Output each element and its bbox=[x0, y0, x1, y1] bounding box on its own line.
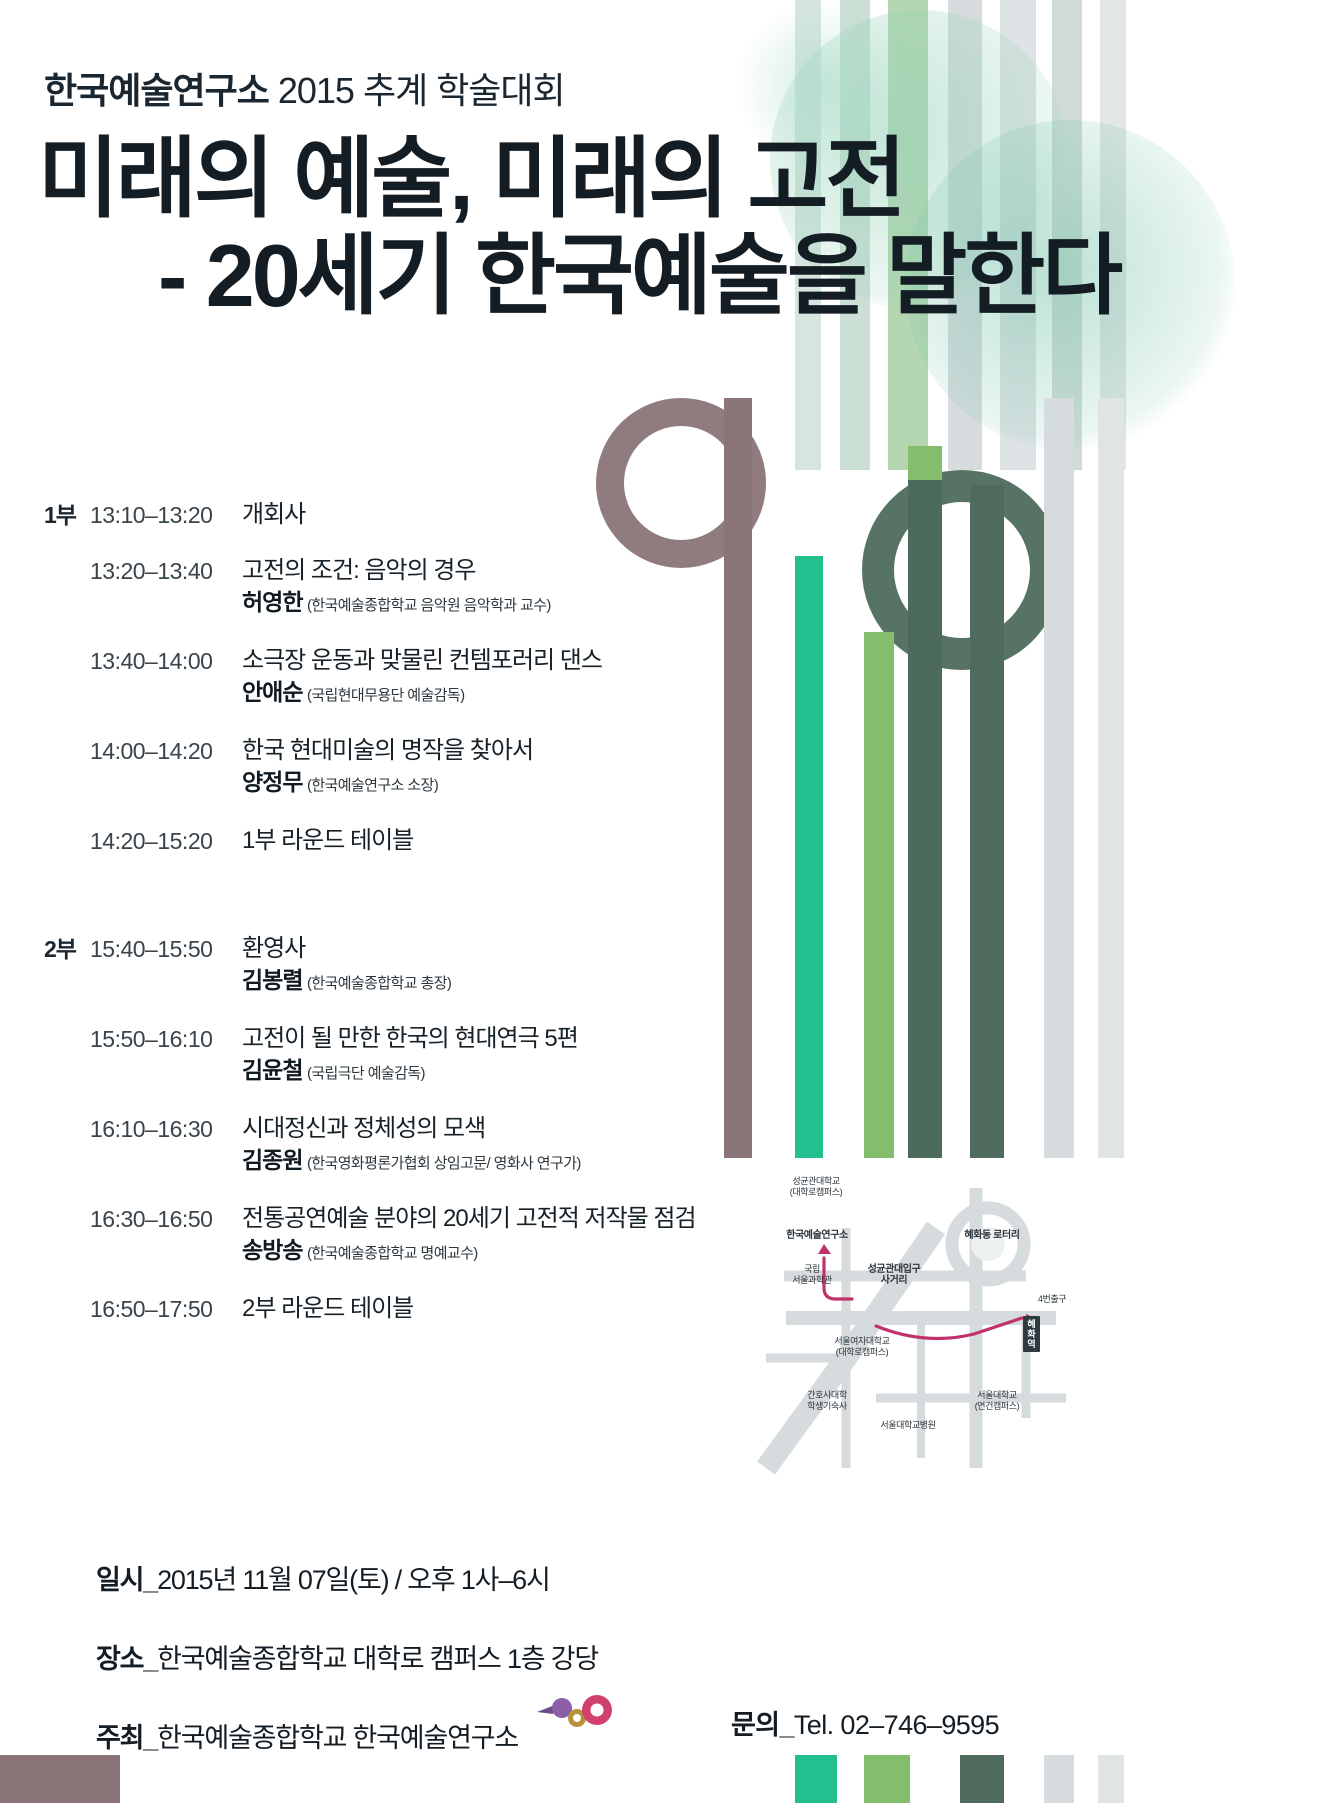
map-label-hyehwa-rotary: 혜화동 로터리 bbox=[942, 1230, 1042, 1241]
kicker-subtitle: 2015 추계 학술대회 bbox=[278, 70, 565, 111]
speaker-name: 허영한 bbox=[242, 589, 302, 615]
schedule-speaker: 김윤철 (국립극단 예술감독) bbox=[242, 1056, 734, 1088]
schedule-speaker: 허영한 (한국예술종합학교 음악원 음악학과 교수) bbox=[242, 588, 734, 620]
schedule-row: 13:40–14:00 소극장 운동과 맞물린 컨템포러리 댄스 안애순 (국립… bbox=[44, 646, 734, 710]
map-label-snu-hospital: 서울대학교병원 bbox=[858, 1420, 958, 1431]
schedule-row: 16:50–17:50 2부 라운드 테이블 bbox=[44, 1294, 734, 1324]
schedule-body: 전통공연예술 분야의 20세기 고전적 저작물 점검 송방송 (한국예술종합학교… bbox=[242, 1204, 734, 1268]
schedule-row: 16:10–16:30 시대정신과 정체성의 모색 김종원 (한국영화평론가협회… bbox=[44, 1114, 734, 1178]
speaker-affiliation: (한국예술종합학교 명예교수) bbox=[307, 1245, 478, 1262]
map-label-exit-4: 4번출구 bbox=[1026, 1294, 1078, 1305]
map-label-sungkyunkwan: 성균관대학교 (대학로캠퍼스) bbox=[768, 1176, 864, 1198]
bar-lightgreen bbox=[864, 632, 894, 1158]
schedule-title: 1부 라운드 테이블 bbox=[242, 826, 734, 856]
schedule-title: 전통공연예술 분야의 20세기 고전적 저작물 점검 bbox=[242, 1204, 734, 1234]
info-place: 장소_한국예술종합학교 대학로 캠퍼스 1층 강당 bbox=[96, 1637, 736, 1676]
schedule-title: 한국 현대미술의 명작을 찾아서 bbox=[242, 736, 734, 766]
map-label-nursing-dorm: 간호사대학 학생기숙사 bbox=[786, 1390, 868, 1412]
map-label-text: 서울여자대학교 bbox=[834, 1336, 889, 1346]
schedule-body: 시대정신과 정체성의 모색 김종원 (한국영화평론가협회 상임고문/ 영화사 연… bbox=[242, 1114, 734, 1178]
band-gray-2 bbox=[1098, 1755, 1124, 1803]
decorative-stem-green bbox=[908, 446, 942, 1158]
schedule-title: 소극장 운동과 맞물린 컨템포러리 댄스 bbox=[242, 646, 734, 676]
decorative-stem-green-cap bbox=[908, 446, 942, 480]
map-label-subtext: 학생기숙사 bbox=[807, 1401, 846, 1411]
poster-root: 한국예술연구소 2015 추계 학술대회 미래의 예술, 미래의 고전 - 20… bbox=[0, 0, 1327, 1803]
band-gray-1 bbox=[1044, 1755, 1074, 1803]
band-mauve bbox=[0, 1755, 120, 1803]
part-label-1: 1부 bbox=[44, 500, 90, 530]
bar-darkgreen bbox=[970, 485, 1004, 1158]
map-label-seoul-women-univ: 서울여자대학교 (대학로캠퍼스) bbox=[810, 1336, 914, 1358]
poster-title: 미래의 예술, 미래의 고전 - 20세기 한국예술을 말한다 bbox=[38, 132, 1218, 323]
info-host-value: 한국예술종합학교 한국예술연구소 bbox=[157, 1723, 518, 1753]
title-line-1: 미래의 예술, 미래의 고전 bbox=[38, 129, 903, 228]
schedule-title: 2부 라운드 테이블 bbox=[242, 1294, 734, 1324]
map-label-snu-yeongeon: 서울대학교 (연건캠퍼스) bbox=[952, 1390, 1042, 1412]
bar-gray-1 bbox=[1044, 398, 1074, 1158]
speaker-affiliation: (국립현대무용단 예술감독) bbox=[307, 687, 465, 704]
map-label-text: 성균관대입구 bbox=[868, 1264, 921, 1275]
schedule-body: 1부 라운드 테이블 bbox=[242, 826, 734, 856]
schedule-speaker: 양정무 (한국예술연구소 소장) bbox=[242, 768, 734, 800]
schedule-title: 고전의 조건: 음악의 경우 bbox=[242, 556, 734, 586]
map-label-subtext: (대학로캠퍼스) bbox=[836, 1347, 888, 1357]
speaker-affiliation: (국립극단 예술감독) bbox=[307, 1065, 425, 1082]
speaker-affiliation: (한국예술종합학교 음악원 음악학과 교수) bbox=[307, 597, 551, 614]
schedule-time: 13:10–13:20 bbox=[90, 500, 242, 530]
map-label-subtext: (연건캠퍼스) bbox=[975, 1401, 1020, 1411]
speaker-name: 안애순 bbox=[242, 679, 302, 705]
map-label-text: 성균관대학교 bbox=[792, 1176, 839, 1186]
schedule-time: 16:10–16:30 bbox=[90, 1114, 242, 1144]
schedule-title: 환영사 bbox=[242, 934, 734, 964]
schedule-speaker: 김봉렬 (한국예술종합학교 총장) bbox=[242, 966, 734, 998]
schedule-time: 15:50–16:10 bbox=[90, 1024, 242, 1054]
speaker-name: 김윤철 bbox=[242, 1057, 302, 1083]
schedule-title: 개회사 bbox=[242, 500, 734, 530]
schedule-row: 2부 15:40–15:50 환영사 김봉렬 (한국예술종합학교 총장) bbox=[44, 934, 734, 998]
schedule-title: 고전이 될 만한 한국의 현대연극 5편 bbox=[242, 1024, 734, 1054]
schedule-row: 14:20–15:20 1부 라운드 테이블 bbox=[44, 826, 734, 856]
map-label-institute: 한국예술연구소 bbox=[762, 1230, 872, 1241]
schedule-time: 16:30–16:50 bbox=[90, 1204, 242, 1234]
info-place-label: 장소_ bbox=[96, 1644, 157, 1674]
schedule-body: 개회사 bbox=[242, 500, 734, 530]
contact-value: Tel. 02–746–9595 bbox=[794, 1710, 999, 1740]
speaker-name: 김종원 bbox=[242, 1147, 302, 1173]
schedule-time: 13:20–13:40 bbox=[90, 556, 242, 586]
map-label-text: 국립 bbox=[804, 1264, 820, 1274]
info-place-value: 한국예술종합학교 대학로 캠퍼스 1층 강당 bbox=[157, 1644, 598, 1674]
schedule-body: 한국 현대미술의 명작을 찾아서 양정무 (한국예술연구소 소장) bbox=[242, 736, 734, 800]
schedule-title: 시대정신과 정체성의 모색 bbox=[242, 1114, 734, 1144]
map-label-subtext: 사거리 bbox=[881, 1275, 907, 1286]
schedule-body: 고전이 될 만한 한국의 현대연극 5편 김윤철 (국립극단 예술감독) bbox=[242, 1024, 734, 1088]
speaker-name: 김봉렬 bbox=[242, 967, 302, 993]
contact-label: 문의_ bbox=[731, 1710, 794, 1740]
decorative-bottom-band bbox=[0, 1755, 1327, 1803]
speaker-name: 양정무 bbox=[242, 769, 302, 795]
schedule-time: 14:00–14:20 bbox=[90, 736, 242, 766]
schedule-row: 15:50–16:10 고전이 될 만한 한국의 현대연극 5편 김윤철 (국립… bbox=[44, 1024, 734, 1088]
poster-kicker: 한국예술연구소 2015 추계 학술대회 bbox=[44, 62, 565, 114]
info-date: 일시_2015년 11월 07일(토) / 오후 1사–6시 bbox=[96, 1558, 736, 1597]
speaker-name: 송방송 bbox=[242, 1237, 302, 1263]
location-map: 성균관대학교 (대학로캠퍼스) 혜화동 로터리 한국예술연구소 국립 서울과학관… bbox=[726, 1168, 1086, 1498]
session-part-2: 2부 15:40–15:50 환영사 김봉렬 (한국예술종합학교 총장) 15:… bbox=[44, 934, 734, 1324]
band-darkgreen bbox=[960, 1755, 1004, 1803]
schedule-body: 고전의 조건: 음악의 경우 허영한 (한국예술종합학교 음악원 음악학과 교수… bbox=[242, 556, 734, 620]
speaker-affiliation: (한국예술연구소 소장) bbox=[307, 777, 438, 794]
bar-teal bbox=[795, 556, 823, 1158]
map-label-crossroad: 성균관대입구 사거리 bbox=[848, 1264, 940, 1286]
schedule-time: 13:40–14:00 bbox=[90, 646, 242, 676]
info-date-value: 2015년 11월 07일(토) / 오후 1사–6시 bbox=[157, 1565, 549, 1595]
organization-name: 한국예술연구소 bbox=[44, 70, 269, 111]
organizer-logo-icon bbox=[535, 1694, 615, 1730]
schedule-speaker: 김종원 (한국영화평론가협회 상임고문/ 영화사 연구가) bbox=[242, 1146, 734, 1178]
schedule-body: 소극장 운동과 맞물린 컨템포러리 댄스 안애순 (국립현대무용단 예술감독) bbox=[242, 646, 734, 710]
schedule-time: 16:50–17:50 bbox=[90, 1294, 242, 1324]
schedule: 1부 13:10–13:20 개회사 13:20–13:40 고전의 조건: 음… bbox=[44, 500, 734, 1354]
info-host: 주최_한국예술종합학교 한국예술연구소 bbox=[96, 1716, 736, 1755]
speaker-affiliation: (한국영화평론가협회 상임고문/ 영화사 연구가) bbox=[307, 1155, 581, 1172]
part-label-2: 2부 bbox=[44, 934, 90, 964]
contact-info: 문의_Tel. 02–746–9595 bbox=[731, 1703, 999, 1742]
schedule-row: 13:20–13:40 고전의 조건: 음악의 경우 허영한 (한국예술종합학교… bbox=[44, 556, 734, 620]
map-label-science-museum: 국립 서울과학관 bbox=[780, 1264, 844, 1286]
bar-gray-2 bbox=[1098, 398, 1124, 1158]
map-label-subtext: 서울과학관 bbox=[792, 1275, 831, 1285]
schedule-time: 14:20–15:20 bbox=[90, 826, 242, 856]
schedule-body: 환영사 김봉렬 (한국예술종합학교 총장) bbox=[242, 934, 734, 998]
speaker-affiliation: (한국예술종합학교 총장) bbox=[307, 975, 451, 992]
map-label-text: 서울대학교 bbox=[977, 1390, 1016, 1400]
schedule-row: 16:30–16:50 전통공연예술 분야의 20세기 고전적 저작물 점검 송… bbox=[44, 1204, 734, 1268]
info-host-label: 주최_ bbox=[96, 1723, 157, 1753]
schedule-row: 14:00–14:20 한국 현대미술의 명작을 찾아서 양정무 (한국예술연구… bbox=[44, 736, 734, 800]
title-line-2: - 20세기 한국예술을 말한다 bbox=[38, 229, 1218, 322]
map-label-hyehwa-station: 혜화역 bbox=[1023, 1316, 1040, 1352]
map-label-text: 간호사대학 bbox=[807, 1390, 846, 1400]
band-lightgreen bbox=[864, 1755, 910, 1803]
schedule-time: 15:40–15:50 bbox=[90, 934, 242, 964]
schedule-speaker: 송방송 (한국예술종합학교 명예교수) bbox=[242, 1236, 734, 1268]
schedule-body: 2부 라운드 테이블 bbox=[242, 1294, 734, 1324]
session-gap bbox=[44, 886, 734, 934]
map-label-subtext: (대학로캠퍼스) bbox=[790, 1187, 842, 1197]
band-teal bbox=[795, 1755, 837, 1803]
schedule-speaker: 안애순 (국립현대무용단 예술감독) bbox=[242, 678, 734, 710]
session-part-1: 1부 13:10–13:20 개회사 13:20–13:40 고전의 조건: 음… bbox=[44, 500, 734, 856]
info-date-label: 일시_ bbox=[96, 1565, 157, 1595]
schedule-row: 1부 13:10–13:20 개회사 bbox=[44, 500, 734, 530]
